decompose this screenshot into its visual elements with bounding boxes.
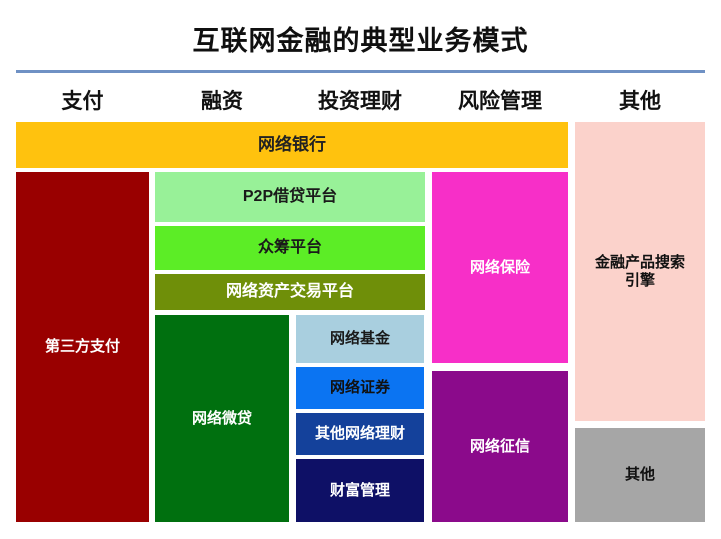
- column-header-other: 其他: [575, 88, 705, 116]
- block-p2p-lending-platform[interactable]: P2P借贷平台: [155, 172, 425, 222]
- column-header-risk: 风险管理: [432, 88, 568, 116]
- block-online-insurance[interactable]: 网络保险: [432, 172, 568, 363]
- column-header-payment: 支付: [16, 88, 149, 116]
- block-other-online-wealth-management[interactable]: 其他网络理财: [296, 413, 424, 455]
- block-online-fund[interactable]: 网络基金: [296, 315, 424, 363]
- block-financial-product-search-engine[interactable]: 金融产品搜索 引擎: [575, 122, 705, 421]
- block-crowdfunding-platform[interactable]: 众筹平台: [155, 226, 425, 270]
- block-online-asset-exchange-platform[interactable]: 网络资产交易平台: [155, 274, 425, 310]
- block-wealth-management[interactable]: 财富管理: [296, 459, 424, 522]
- block-third-party-payment[interactable]: 第三方支付: [16, 172, 149, 522]
- block-other-block[interactable]: 其他: [575, 428, 705, 522]
- block-online-banking[interactable]: 网络银行: [16, 122, 568, 168]
- page-title: 互联网金融的典型业务模式: [0, 24, 721, 58]
- column-header-investment: 投资理财: [296, 88, 424, 116]
- column-header-financing: 融资: [155, 88, 289, 116]
- slide-canvas: 互联网金融的典型业务模式 支付融资投资理财风险管理其他 网络银行第三方支付P2P…: [0, 0, 721, 539]
- title-divider: [16, 70, 705, 73]
- block-online-microloan[interactable]: 网络微贷: [155, 315, 289, 522]
- block-online-credit-reporting[interactable]: 网络征信: [432, 371, 568, 522]
- block-online-securities[interactable]: 网络证券: [296, 367, 424, 409]
